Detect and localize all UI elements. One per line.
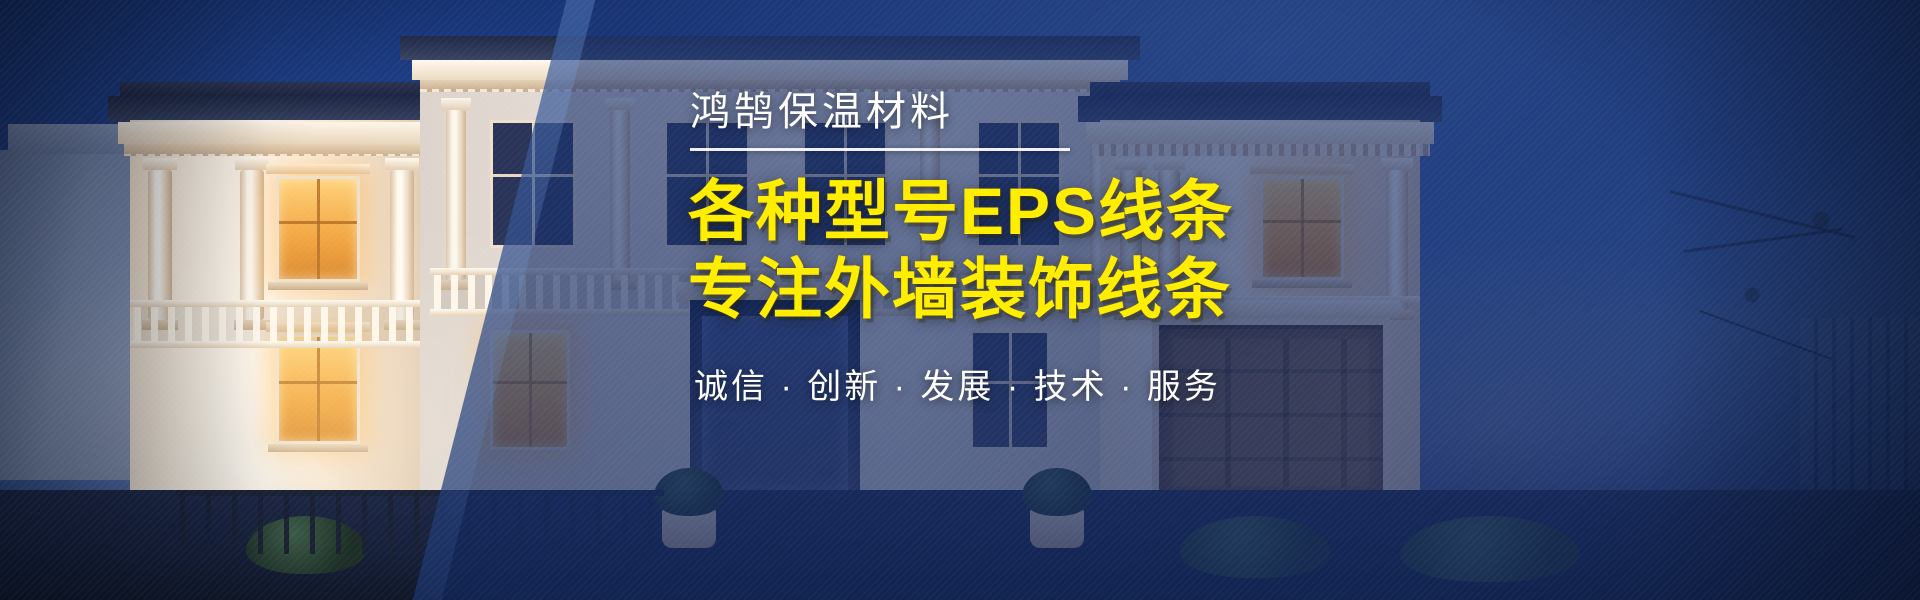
banner-copy: 鸿鹄保温材料 各种型号EPS线条 专注外墙装饰线条 诚信 · 创新 · 发展 ·… [688,92,1588,408]
brand-kicker: 鸿鹄保温材料 [690,92,1588,132]
headline-line-2: 专注外墙装饰线条 [688,251,1588,329]
headline-line-1: 各种型号EPS线条 [688,173,1588,251]
divider-rule [690,148,1070,151]
promo-banner: 鸿鹄保温材料 各种型号EPS线条 专注外墙装饰线条 诚信 · 创新 · 发展 ·… [0,0,1920,600]
tagline: 诚信 · 创新 · 发展 · 技术 · 服务 [694,359,1588,408]
